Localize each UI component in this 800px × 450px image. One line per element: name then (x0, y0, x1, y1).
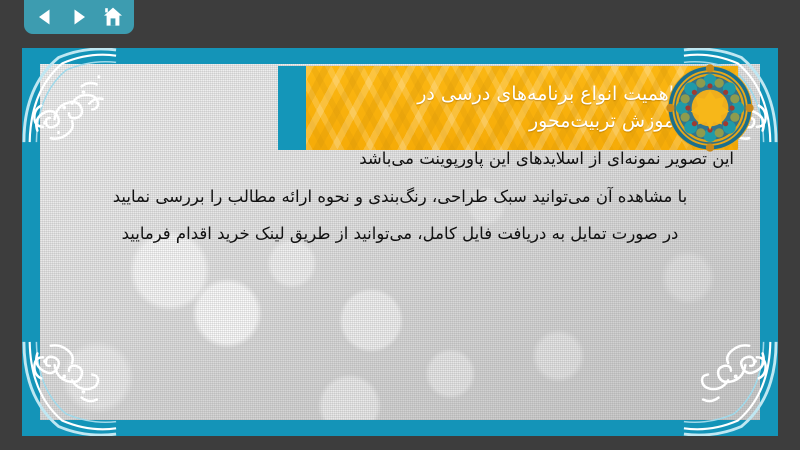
body-text-line-2: با مشاهده آن می‌توانید سبک طراحی، رنگ‌بن… (58, 178, 742, 216)
body-text-line-3: در صورت تمایل به دریافت فایل کامل، می‌تو… (58, 215, 742, 253)
slide-viewer: تحلیل اهمیت انواع برنامه‌های درسی در نظا… (0, 0, 800, 450)
triangle-left-icon (35, 7, 55, 27)
slide-body-text: این تصویر نمونه‌ای از اسلایدهای این پاور… (58, 140, 742, 253)
navigation-bar (24, 0, 134, 34)
presentation-slide: تحلیل اهمیت انواع برنامه‌های درسی در نظا… (22, 48, 778, 436)
banner-left-tab (278, 66, 306, 150)
home-button[interactable] (99, 4, 127, 30)
persian-medallion-ornament-icon (664, 62, 756, 154)
next-slide-button[interactable] (65, 4, 93, 30)
triangle-right-icon (69, 7, 89, 27)
home-icon (102, 6, 124, 28)
previous-slide-button[interactable] (31, 4, 59, 30)
